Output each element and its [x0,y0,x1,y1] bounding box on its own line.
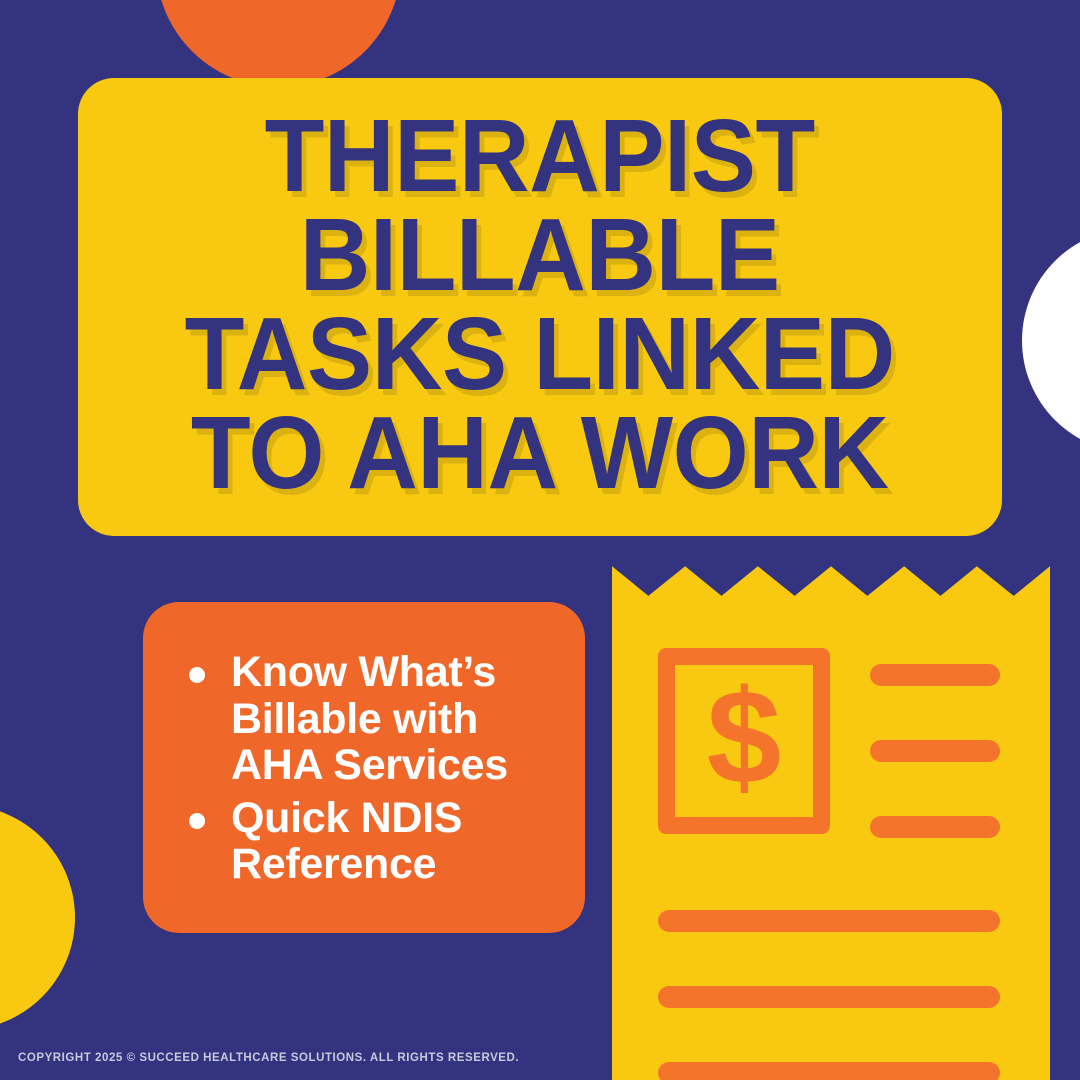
list-item: Know What’s Billable with AHA Services [169,649,563,788]
receipt-illustration: $ [612,560,1050,1080]
copyright-notice: COPYRIGHT 2025 © SUCCEED HEALTHCARE SOLU… [18,1052,519,1064]
receipt-line-short [870,664,1000,686]
receipt-line-full [658,986,1000,1008]
orange-circle-decoration [156,0,401,87]
white-circle-decoration [1022,228,1080,453]
dollar-sign-icon: $ [658,648,830,834]
poster-canvas: THERAPIST BILLABLE TASKS LINKED TO AHA W… [0,0,1080,1080]
receipt-line-full [658,1062,1000,1080]
receipt-line-full [658,910,1000,932]
yellow-circle-decoration [0,805,75,1030]
receipt-line-short [870,816,1000,838]
page-title: THERAPIST BILLABLE TASKS LINKED TO AHA W… [185,107,895,503]
list-item: Quick NDIS Reference [169,795,563,888]
bullet-card: Know What’s Billable with AHA Services Q… [143,602,585,933]
bullet-list: Know What’s Billable with AHA Services Q… [169,649,563,887]
title-panel: THERAPIST BILLABLE TASKS LINKED TO AHA W… [78,78,1002,536]
receipt-line-short [870,740,1000,762]
